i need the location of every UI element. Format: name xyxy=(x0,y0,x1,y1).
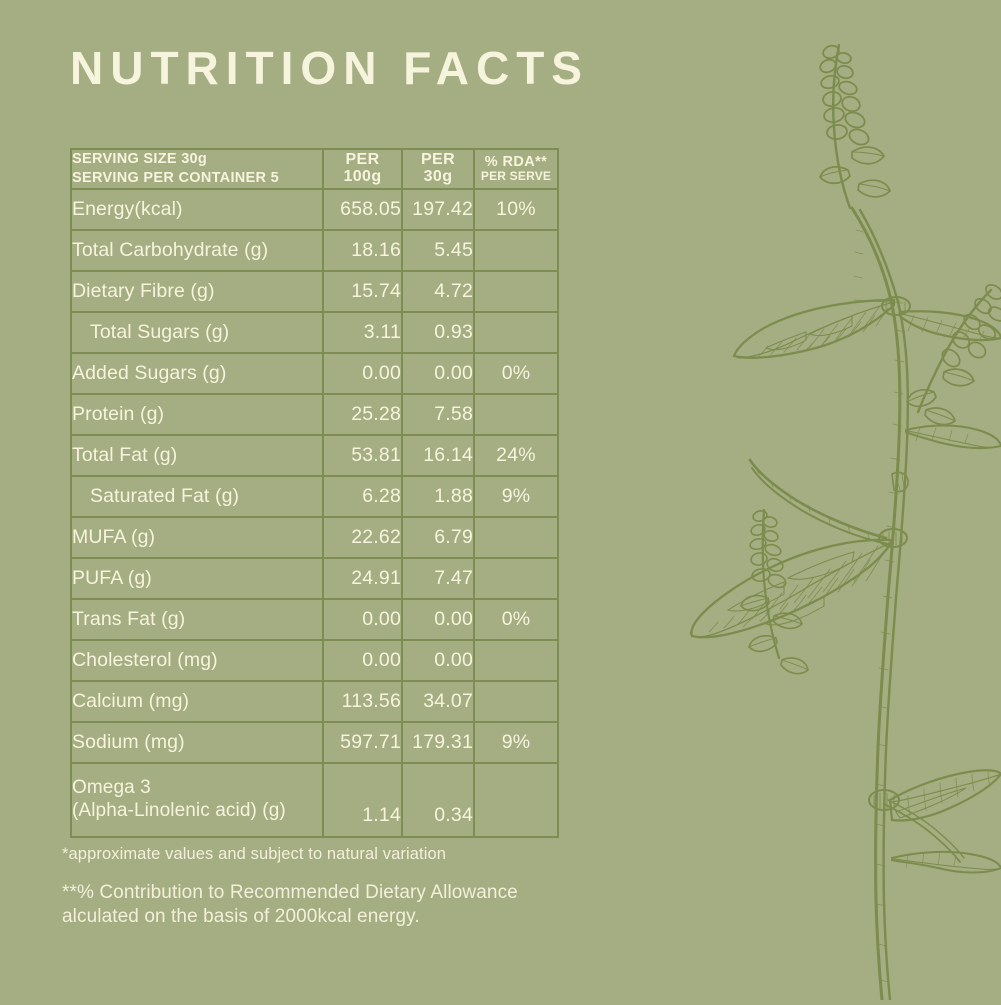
nutrient-name-cell: Calcium (mg) xyxy=(71,681,323,722)
value-per-100g-cell: 1.14 xyxy=(323,763,402,837)
nutrient-name-cell: Energy(kcal) xyxy=(71,189,323,230)
value-per-30g-cell: 7.58 xyxy=(402,394,474,435)
value-rda-cell xyxy=(474,763,558,837)
value-per-30g-cell: 0.00 xyxy=(402,640,474,681)
value-per-100g-cell: 24.91 xyxy=(323,558,402,599)
value-per-30g-cell: 7.47 xyxy=(402,558,474,599)
serving-size-label: SERVING SIZE 30g xyxy=(72,151,207,167)
table-row: Cholesterol (mg)0.000.00 xyxy=(71,640,558,681)
nutrient-name-cell: Saturated Fat (g) xyxy=(71,476,323,517)
value-rda-cell: 0% xyxy=(474,599,558,640)
nutrient-name-cell: Total Carbohydrate (g) xyxy=(71,230,323,271)
value-rda-cell: 9% xyxy=(474,722,558,763)
table-row: MUFA (g)22.626.79 xyxy=(71,517,558,558)
page-title: NUTRITION FACTS xyxy=(70,45,589,91)
value-per-100g-cell: 0.00 xyxy=(323,353,402,394)
table-row: Added Sugars (g)0.000.000% xyxy=(71,353,558,394)
value-per-100g-cell: 18.16 xyxy=(323,230,402,271)
table-row: Dietary Fibre (g)15.744.72 xyxy=(71,271,558,312)
per-100g-line1: PER xyxy=(324,152,401,169)
per-30g-line1: PER xyxy=(403,152,473,169)
footnote-rda-line2: alculated on the basis of 2000kcal energ… xyxy=(62,906,420,927)
value-per-30g-cell: 5.45 xyxy=(402,230,474,271)
value-per-100g-cell: 25.28 xyxy=(323,394,402,435)
value-per-30g-cell: 0.34 xyxy=(402,763,474,837)
value-per-100g-cell: 113.56 xyxy=(323,681,402,722)
nutrient-name-cell: Protein (g) xyxy=(71,394,323,435)
table-row: Protein (g)25.287.58 xyxy=(71,394,558,435)
table-row: Total Fat (g)53.8116.1424% xyxy=(71,435,558,476)
footnote-rda-line1: **% Contribution to Recommended Dietary … xyxy=(62,882,518,903)
column-header-per-30g: PER 30g xyxy=(402,149,474,189)
table-row: Sodium (mg)597.71179.319% xyxy=(71,722,558,763)
value-per-100g-cell: 6.28 xyxy=(323,476,402,517)
value-per-100g-cell: 53.81 xyxy=(323,435,402,476)
value-rda-cell xyxy=(474,271,558,312)
table-row: PUFA (g)24.917.47 xyxy=(71,558,558,599)
table-row: Total Sugars (g)3.110.93 xyxy=(71,312,558,353)
nutrition-facts-table: SERVING SIZE 30g SERVING PER CONTAINER 5… xyxy=(70,148,559,838)
value-per-30g-cell: 6.79 xyxy=(402,517,474,558)
nutrient-name-cell: Total Sugars (g) xyxy=(71,312,323,353)
value-rda-cell xyxy=(474,558,558,599)
value-per-100g-cell: 0.00 xyxy=(323,599,402,640)
footnotes: *approximate values and subject to natur… xyxy=(62,845,622,929)
table-header-row: SERVING SIZE 30g SERVING PER CONTAINER 5… xyxy=(71,149,558,189)
value-per-30g-cell: 0.00 xyxy=(402,353,474,394)
value-rda-cell xyxy=(474,312,558,353)
value-per-30g-cell: 4.72 xyxy=(402,271,474,312)
column-header-rda: % RDA** PER SERVE xyxy=(474,149,558,189)
value-rda-cell xyxy=(474,681,558,722)
nutrient-name-cell: Total Fat (g) xyxy=(71,435,323,476)
value-per-100g-cell: 0.00 xyxy=(323,640,402,681)
value-per-30g-cell: 179.31 xyxy=(402,722,474,763)
nutrient-name-cell: PUFA (g) xyxy=(71,558,323,599)
table-row: Calcium (mg)113.5634.07 xyxy=(71,681,558,722)
value-per-100g-cell: 597.71 xyxy=(323,722,402,763)
value-rda-cell: 10% xyxy=(474,189,558,230)
value-per-100g-cell: 3.11 xyxy=(323,312,402,353)
nutrient-name-cell: Omega 3(Alpha-Linolenic acid) (g) xyxy=(71,763,323,837)
rda-line1: % RDA** xyxy=(475,155,557,170)
value-per-30g-cell: 16.14 xyxy=(402,435,474,476)
table-row: Total Carbohydrate (g)18.165.45 xyxy=(71,230,558,271)
omega-name-line1: Omega 3 xyxy=(72,777,151,798)
value-rda-cell xyxy=(474,517,558,558)
nutrient-name-cell: MUFA (g) xyxy=(71,517,323,558)
table-row: Saturated Fat (g)6.281.889% xyxy=(71,476,558,517)
value-per-100g-cell: 22.62 xyxy=(323,517,402,558)
value-rda-cell: 24% xyxy=(474,435,558,476)
nutrition-table-body: Energy(kcal)658.05197.4210%Total Carbohy… xyxy=(71,189,558,837)
value-rda-cell xyxy=(474,230,558,271)
value-rda-cell: 9% xyxy=(474,476,558,517)
table-row: Omega 3(Alpha-Linolenic acid) (g)1.140.3… xyxy=(71,763,558,837)
table-row: Energy(kcal)658.05197.4210% xyxy=(71,189,558,230)
value-rda-cell: 0% xyxy=(474,353,558,394)
value-per-30g-cell: 0.00 xyxy=(402,599,474,640)
value-rda-cell xyxy=(474,394,558,435)
per-30g-line2: 30g xyxy=(403,169,473,186)
nutrient-name-cell: Sodium (mg) xyxy=(71,722,323,763)
per-100g-line2: 100g xyxy=(324,169,401,186)
nutrient-name-cell: Dietary Fibre (g) xyxy=(71,271,323,312)
table-row: Trans Fat (g)0.000.000% xyxy=(71,599,558,640)
value-per-30g-cell: 34.07 xyxy=(402,681,474,722)
omega-name-line2: (Alpha-Linolenic acid) (g) xyxy=(72,800,286,821)
nutrient-name-cell: Cholesterol (mg) xyxy=(71,640,323,681)
footnote-approximate-values: *approximate values and subject to natur… xyxy=(62,845,622,865)
footnote-rda-explanation: **% Contribution to Recommended Dietary … xyxy=(62,881,622,930)
nutrient-name-cell: Added Sugars (g) xyxy=(71,353,323,394)
serving-per-container-label: SERVING PER CONTAINER 5 xyxy=(72,170,279,186)
rda-line2: PER SERVE xyxy=(475,170,557,183)
value-per-100g-cell: 15.74 xyxy=(323,271,402,312)
value-per-30g-cell: 0.93 xyxy=(402,312,474,353)
nutrient-name-cell: Trans Fat (g) xyxy=(71,599,323,640)
value-per-30g-cell: 197.42 xyxy=(402,189,474,230)
serving-info-cell: SERVING SIZE 30g SERVING PER CONTAINER 5 xyxy=(71,149,323,189)
column-header-per-100g: PER 100g xyxy=(323,149,402,189)
value-per-30g-cell: 1.88 xyxy=(402,476,474,517)
value-per-100g-cell: 658.05 xyxy=(323,189,402,230)
nutrition-label-page: NUTRITION FACTS SERVING SIZE 30g SERVING… xyxy=(0,0,1001,1000)
basil-plant-illustration xyxy=(656,0,1001,1000)
value-rda-cell xyxy=(474,640,558,681)
